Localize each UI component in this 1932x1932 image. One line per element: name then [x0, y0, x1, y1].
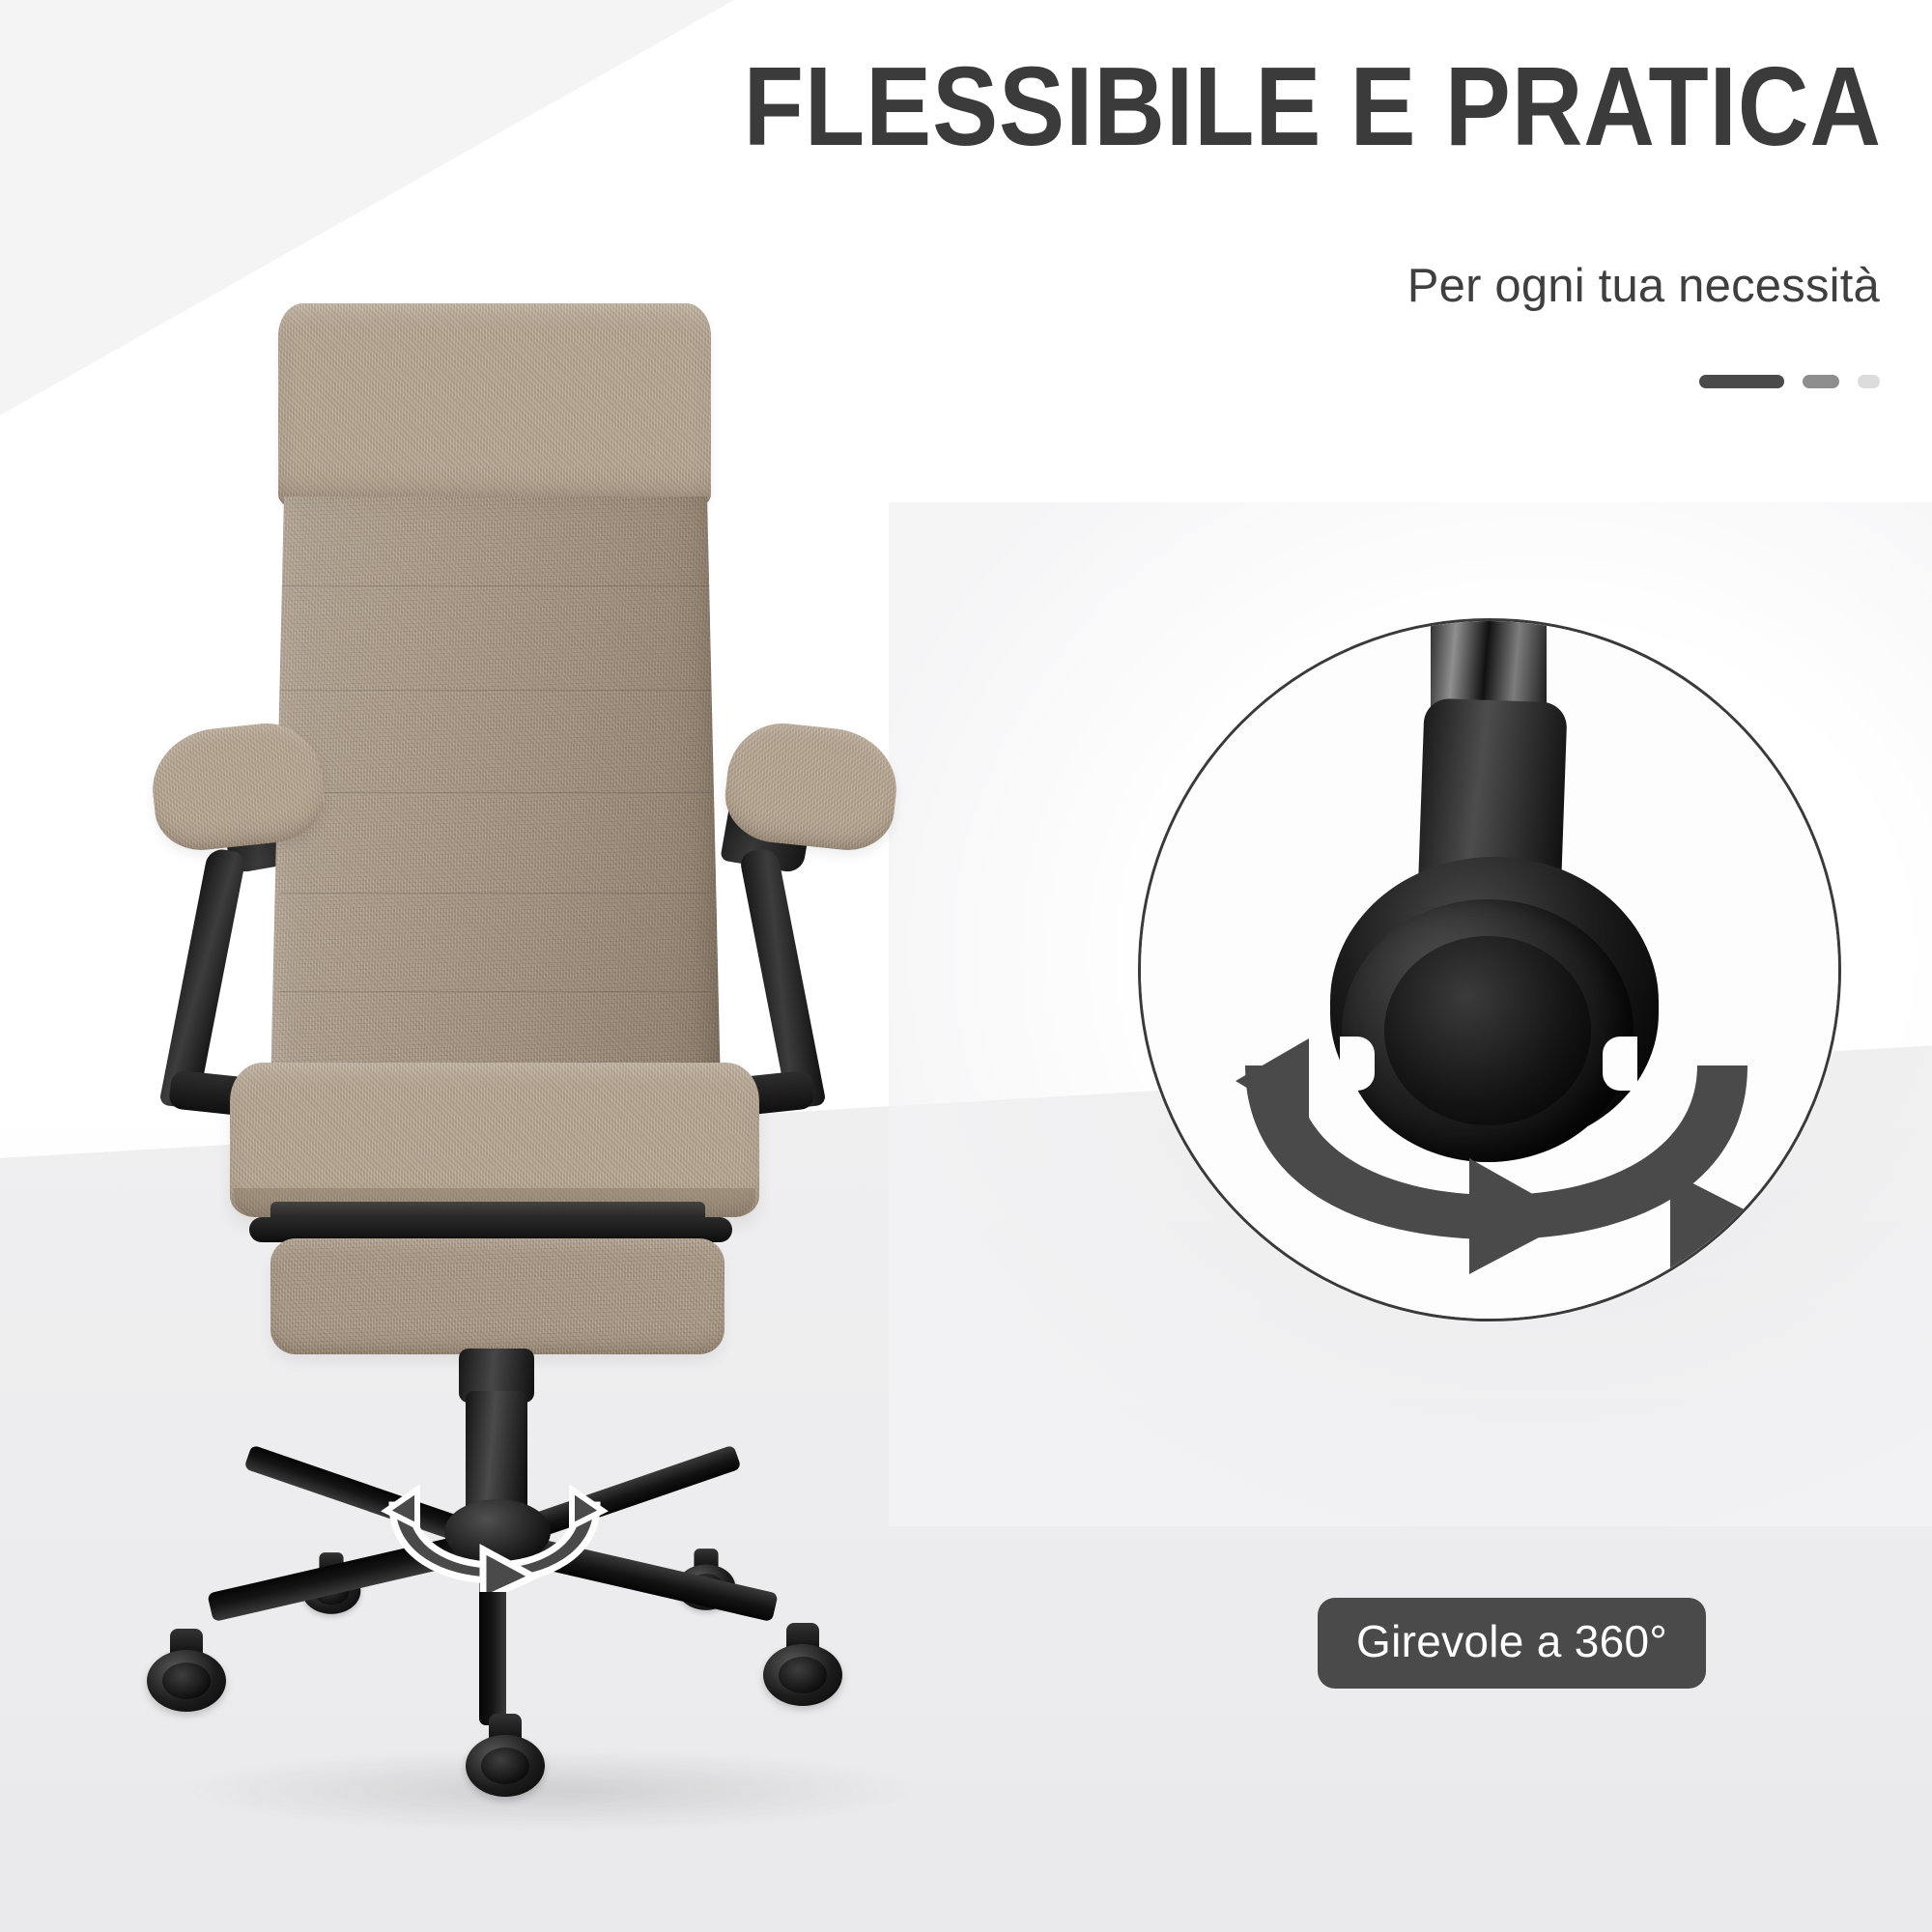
backrest-seam	[279, 893, 711, 895]
caster-detail-inset	[1138, 618, 1841, 1321]
pagination-dash-active[interactable]	[1699, 375, 1784, 388]
status-badge: Girevole a 360°	[1318, 1598, 1706, 1689]
backrest-seam	[279, 690, 711, 693]
rotation-arrow-icon	[379, 1484, 611, 1592]
chair-backrest	[270, 497, 721, 1092]
caster-wheel	[147, 1629, 226, 1712]
armrest-post-right	[738, 848, 826, 1110]
chair-footrest	[270, 1238, 724, 1354]
caster-wheel-disc	[763, 1644, 842, 1706]
pagination-dash-next[interactable]	[1803, 375, 1839, 388]
armrest-pad-right	[721, 718, 902, 855]
chair-headrest	[278, 303, 711, 506]
pagination-dash-inactive[interactable]	[1858, 375, 1880, 388]
product-feature-banner: FLESSIBILE E PRATICA Per ogni tua necess…	[0, 0, 1932, 1932]
backrest-seam	[279, 792, 711, 795]
rotation-arrow-icon	[1216, 1037, 1776, 1278]
pagination-indicator[interactable]	[1699, 375, 1880, 388]
backrest-seam	[279, 585, 711, 588]
caster-wheel	[763, 1623, 842, 1706]
page-subtitle: Per ogni tua necessità	[1407, 259, 1880, 313]
caster-wheel-disc	[466, 1735, 545, 1797]
page-title: FLESSIBILE E PRATICA	[607, 50, 1882, 162]
armrest-post-left	[158, 848, 246, 1110]
caster-wheel	[466, 1714, 545, 1797]
caster-wheel-disc	[147, 1650, 226, 1712]
office-chair-product-image	[126, 290, 1014, 1874]
chair-floor-shadow	[184, 1750, 918, 1832]
backrest-seam	[279, 991, 711, 994]
